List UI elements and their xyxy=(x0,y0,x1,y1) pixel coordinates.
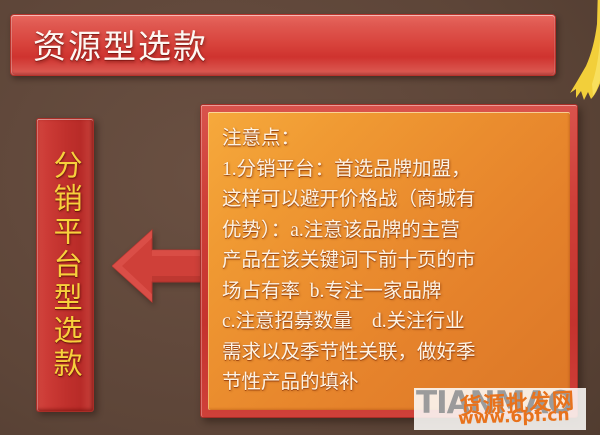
content-box-inner: 注意点： 1.分销平台：首选品牌加盟， 这样可以避开价格战（商城有 优势）：a.… xyxy=(208,112,570,410)
content-line: 这样可以避开价格战（商城有 xyxy=(222,185,557,216)
content-line: c.注意招募数量 d.关注行业 xyxy=(222,307,557,338)
slide-canvas: 资源型选款 分销平台型选款 注意点： 1.分销平台：首选品牌加盟， 这样可以避开… xyxy=(0,0,600,435)
content-line: 优势）：a.注意该品牌的主营 xyxy=(222,216,557,247)
content-line: 需求以及季节性关联，做好季 xyxy=(222,338,557,369)
page-title: 资源型选款 xyxy=(33,20,208,68)
left-arrow-icon xyxy=(112,222,208,308)
content-line: 场占有率 b.专注一家品牌 xyxy=(222,277,557,308)
side-label-box: 分销平台型选款 xyxy=(36,118,94,412)
content-line: 产品在该关键词下前十页的市 xyxy=(222,246,557,277)
title-banner: 资源型选款 xyxy=(10,14,556,76)
content-line: 注意点： xyxy=(222,124,557,155)
content-line: 1.分销平台：首选品牌加盟， xyxy=(222,155,557,186)
side-label-text: 分销平台型选款 xyxy=(48,150,82,381)
watermark: TIANMAO 货源批发网 www.6pf.cn xyxy=(414,388,586,430)
content-box: 注意点： 1.分销平台：首选品牌加盟， 这样可以避开价格战（商城有 优势）：a.… xyxy=(200,104,578,418)
watermark-url: www.6pf.cn xyxy=(458,405,570,429)
